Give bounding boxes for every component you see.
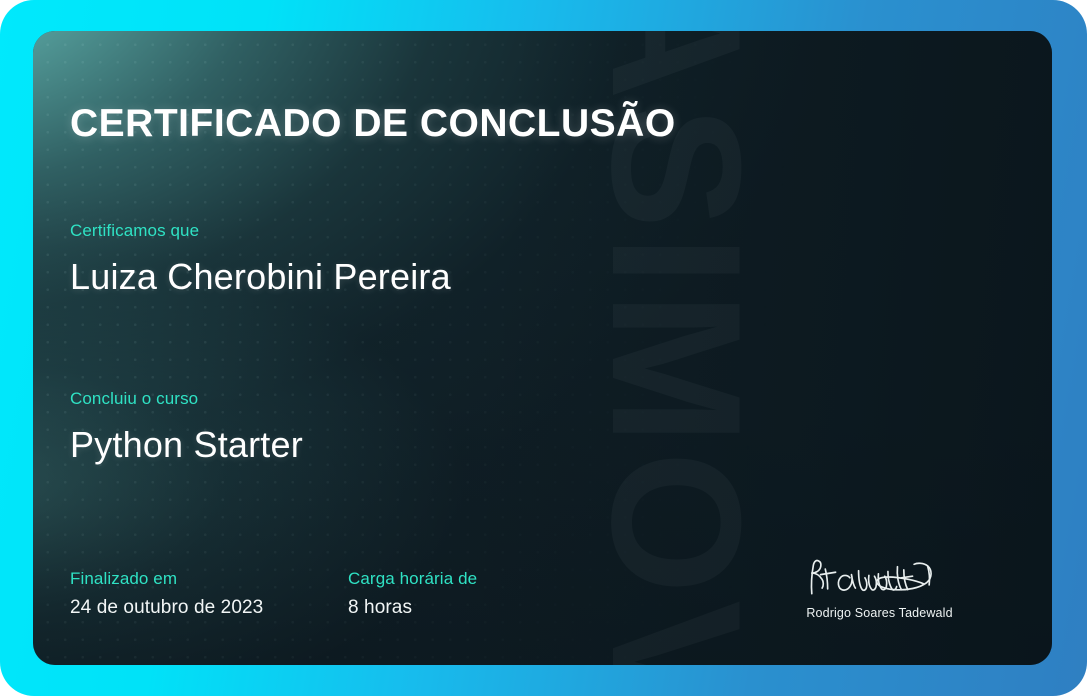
course-name: Python Starter xyxy=(70,424,303,466)
signature-block: Rodrigo Soares Tadewald xyxy=(757,554,1002,620)
workload-label: Carga horária de xyxy=(348,569,477,589)
recipient-label: Certificamos que xyxy=(70,221,451,241)
certificate-card: ASIMOV CERTIFICADO DE CONCLUSÃO Certific… xyxy=(33,31,1052,665)
page-title: CERTIFICADO DE CONCLUSÃO xyxy=(70,102,676,146)
completion-date-value: 24 de outubro de 2023 xyxy=(70,597,263,619)
certificate-frame: ASIMOV CERTIFICADO DE CONCLUSÃO Certific… xyxy=(0,0,1087,696)
certificate-content: CERTIFICADO DE CONCLUSÃO Certificamos qu… xyxy=(33,31,1052,665)
recipient-block: Certificamos que Luiza Cherobini Pereira xyxy=(70,221,451,298)
workload-value: 8 horas xyxy=(348,597,477,619)
handwritten-signature-icon xyxy=(800,554,960,600)
course-label: Concluiu o curso xyxy=(70,389,303,409)
recipient-name: Luiza Cherobini Pereira xyxy=(70,256,451,298)
course-block: Concluiu o curso Python Starter xyxy=(70,389,303,466)
completion-date-block: Finalizado em 24 de outubro de 2023 xyxy=(70,569,263,619)
workload-block: Carga horária de 8 horas xyxy=(348,569,477,619)
signature-name: Rodrigo Soares Tadewald xyxy=(757,606,1002,620)
completion-date-label: Finalizado em xyxy=(70,569,263,589)
